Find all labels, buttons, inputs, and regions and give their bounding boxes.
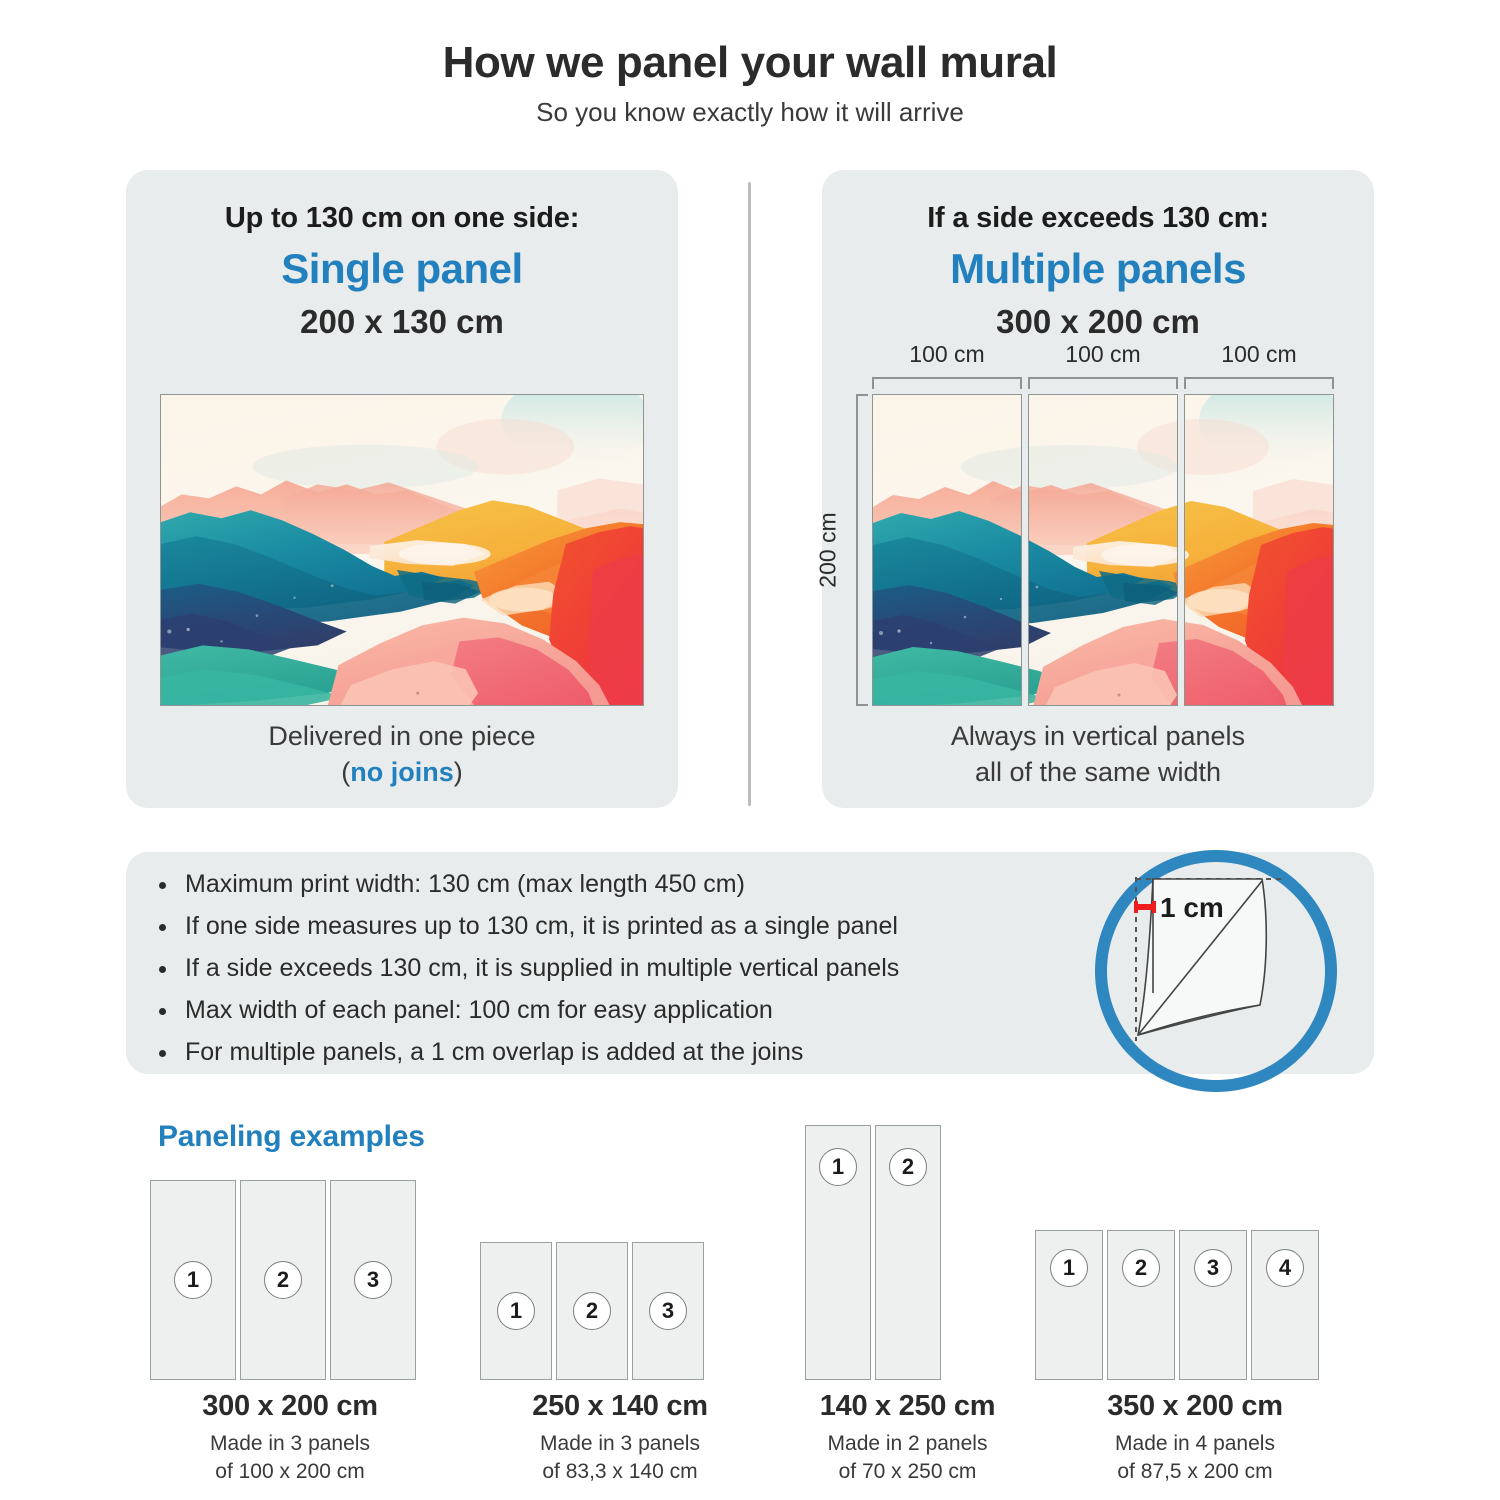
bullet-icon xyxy=(159,1008,166,1015)
panel-block: 1 xyxy=(480,1242,552,1380)
rules-list: Maximum print width: 130 cm (max length … xyxy=(155,872,1055,1082)
rule-text: Maximum print width: 130 cm (max length … xyxy=(185,870,745,898)
paneling-example-2: 1 2 3 xyxy=(480,1205,760,1380)
panel-number: 2 xyxy=(573,1292,611,1330)
single-dimensions: 200 x 130 cm xyxy=(126,303,678,341)
panel-number: 1 xyxy=(819,1148,857,1186)
rule-text: Max width of each panel: 100 cm for easy… xyxy=(185,996,773,1024)
paneling-example-3: 1 2 xyxy=(805,1125,1010,1380)
single-caption-accent: no joins xyxy=(350,757,454,787)
single-caption-paren-close: ) xyxy=(454,757,463,787)
watercolor-landscape-slice-2 xyxy=(1028,395,1178,706)
header: How we panel your wall mural So you know… xyxy=(0,38,1500,128)
example-dimensions: 350 x 200 cm xyxy=(1035,1390,1355,1423)
example-sub-line2: of 83,3 x 140 cm xyxy=(542,1460,697,1483)
panel-number: 2 xyxy=(264,1261,302,1299)
panel-width-label-2: 100 cm xyxy=(1028,341,1178,368)
paneling-caption-1: 300 x 200 cm Made in 3 panels of 100 x 2… xyxy=(150,1390,430,1486)
panel-block: 2 xyxy=(1107,1230,1175,1380)
example-subtext: Made in 4 panels of 87,5 x 200 cm xyxy=(1035,1430,1355,1486)
panel-number: 1 xyxy=(174,1261,212,1299)
overlap-label: 1 cm xyxy=(1160,892,1224,923)
panel-block: 2 xyxy=(875,1125,941,1380)
panel-height-bracket xyxy=(856,394,868,706)
rule-item: Max width of each panel: 100 cm for easy… xyxy=(155,998,1055,1023)
panel-block: 2 xyxy=(556,1242,628,1380)
panel-block: 1 xyxy=(150,1180,236,1380)
bullet-icon xyxy=(159,1050,166,1057)
multi-title: Multiple panels xyxy=(822,245,1374,293)
example-sub-line1: Made in 3 panels xyxy=(540,1432,700,1455)
panel-number: 1 xyxy=(1050,1249,1088,1287)
panel-width-bracket-2 xyxy=(1028,377,1178,389)
multi-caption-line1: Always in vertical panels xyxy=(951,721,1245,751)
example-sub-line1: Made in 3 panels xyxy=(210,1432,370,1455)
paneling-example-1: 1 2 3 xyxy=(150,1180,430,1380)
example-dimensions: 300 x 200 cm xyxy=(150,1390,430,1423)
vertical-divider xyxy=(748,182,751,806)
example-dimensions: 250 x 140 cm xyxy=(480,1390,760,1423)
example-sub-line2: of 100 x 200 cm xyxy=(215,1460,364,1483)
panel-width-bracket-1 xyxy=(872,377,1022,389)
single-caption-paren-open: ( xyxy=(341,757,350,787)
single-kicker: Up to 130 cm on one side: xyxy=(126,202,678,235)
bullet-icon xyxy=(159,966,166,973)
bullet-icon xyxy=(159,924,166,931)
single-title: Single panel xyxy=(126,245,678,293)
multi-dimensions: 300 x 200 cm xyxy=(822,303,1374,341)
paneling-caption-4: 350 x 200 cm Made in 4 panels of 87,5 x … xyxy=(1035,1390,1355,1486)
panel-block: 1 xyxy=(805,1125,871,1380)
bullet-icon xyxy=(159,882,166,889)
example-dimensions: 140 x 250 cm xyxy=(805,1390,1010,1423)
panel-width-label-3: 100 cm xyxy=(1184,341,1334,368)
panel-width-label-1: 100 cm xyxy=(872,341,1022,368)
rule-text: For multiple panels, a 1 cm overlap is a… xyxy=(185,1038,803,1066)
page-title: How we panel your wall mural xyxy=(0,38,1500,87)
single-caption-line1: Delivered in one piece xyxy=(268,721,535,751)
panel-number: 2 xyxy=(1122,1249,1160,1287)
panel-height-label: 200 cm xyxy=(815,512,842,587)
watercolor-landscape-slice-1 xyxy=(873,395,1022,706)
mural-panel-3 xyxy=(1184,394,1334,706)
rule-item: If a side exceeds 130 cm, it is supplied… xyxy=(155,956,1055,981)
mural-panel-1 xyxy=(872,394,1022,706)
panel-block: 3 xyxy=(330,1180,416,1380)
example-subtext: Made in 3 panels of 83,3 x 140 cm xyxy=(480,1430,760,1486)
overlap-diagram: 1 cm xyxy=(1090,845,1342,1097)
watercolor-landscape-slice-3 xyxy=(1184,395,1334,706)
panel-width-bracket-3 xyxy=(1184,377,1334,389)
example-sub-line1: Made in 4 panels xyxy=(1115,1432,1275,1455)
panel-block: 3 xyxy=(632,1242,704,1380)
panel-number: 1 xyxy=(497,1292,535,1330)
mural-panel-2 xyxy=(1028,394,1178,706)
watercolor-landscape-svg xyxy=(161,395,643,705)
panel-number: 3 xyxy=(649,1292,687,1330)
rule-text: If one side measures up to 130 cm, it is… xyxy=(185,912,898,940)
paneling-caption-3: 140 x 250 cm Made in 2 panels of 70 x 25… xyxy=(805,1390,1010,1486)
page-subtitle: So you know exactly how it will arrive xyxy=(0,97,1500,128)
paneling-examples-title: Paneling examples xyxy=(158,1120,425,1154)
infographic-page: How we panel your wall mural So you know… xyxy=(0,0,1500,1500)
panel-number: 4 xyxy=(1266,1249,1304,1287)
example-sub-line2: of 87,5 x 200 cm xyxy=(1117,1460,1272,1483)
multi-caption-line2: all of the same width xyxy=(975,757,1221,787)
mural-artwork-single xyxy=(160,394,644,706)
paneling-example-4: 1 2 3 4 xyxy=(1035,1205,1355,1380)
rule-item: For multiple panels, a 1 cm overlap is a… xyxy=(155,1040,1055,1065)
rule-text: If a side exceeds 130 cm, it is supplied… xyxy=(185,954,899,982)
paneling-caption-2: 250 x 140 cm Made in 3 panels of 83,3 x … xyxy=(480,1390,760,1486)
panel-block: 2 xyxy=(240,1180,326,1380)
panel-block: 3 xyxy=(1179,1230,1247,1380)
rule-item: Maximum print width: 130 cm (max length … xyxy=(155,872,1055,897)
example-sub-line2: of 70 x 250 cm xyxy=(839,1460,977,1483)
example-sub-line1: Made in 2 panels xyxy=(828,1432,988,1455)
panel-number: 2 xyxy=(889,1148,927,1186)
rule-item: If one side measures up to 130 cm, it is… xyxy=(155,914,1055,939)
panel-number: 3 xyxy=(1194,1249,1232,1287)
example-subtext: Made in 2 panels of 70 x 250 cm xyxy=(805,1430,1010,1486)
panel-block: 4 xyxy=(1251,1230,1319,1380)
panel-number: 3 xyxy=(354,1261,392,1299)
multi-kicker: If a side exceeds 130 cm: xyxy=(822,202,1374,235)
multi-caption: Always in vertical panels all of the sam… xyxy=(822,718,1374,790)
panel-block: 1 xyxy=(1035,1230,1103,1380)
single-caption: Delivered in one piece (no joins) xyxy=(126,718,678,790)
example-subtext: Made in 3 panels of 100 x 200 cm xyxy=(150,1430,430,1486)
